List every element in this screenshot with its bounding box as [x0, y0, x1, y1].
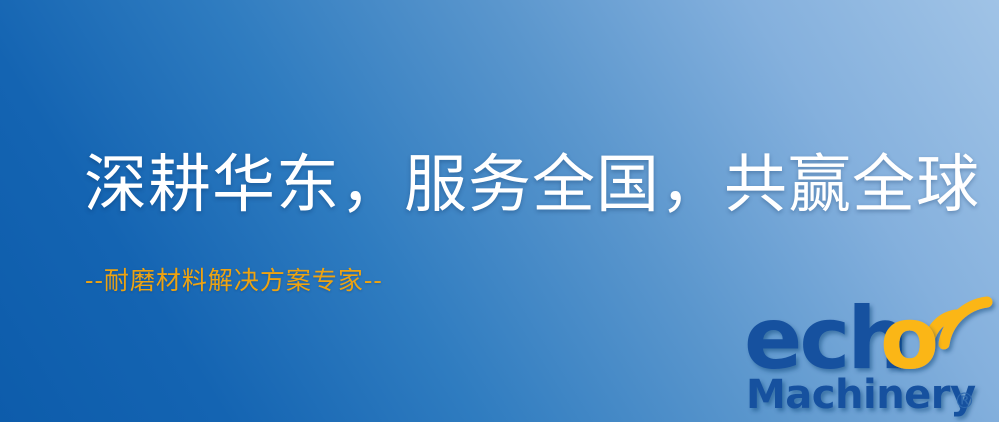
hero-banner: 深耕华东，服务全国，共赢全球 --耐磨材料解决方案专家-- ech o Mach…	[0, 0, 999, 422]
logo-word-machinery: Machinery	[746, 372, 976, 418]
banner-headline: 深耕华东，服务全国，共赢全球	[84, 152, 980, 218]
signal-arcs-icon	[929, 302, 987, 344]
echo-machinery-logo[interactable]: ech o Machinery ®	[744, 296, 996, 420]
registered-trademark-icon: ®	[954, 389, 975, 413]
banner-subtitle: --耐磨材料解决方案专家--	[85, 266, 383, 296]
